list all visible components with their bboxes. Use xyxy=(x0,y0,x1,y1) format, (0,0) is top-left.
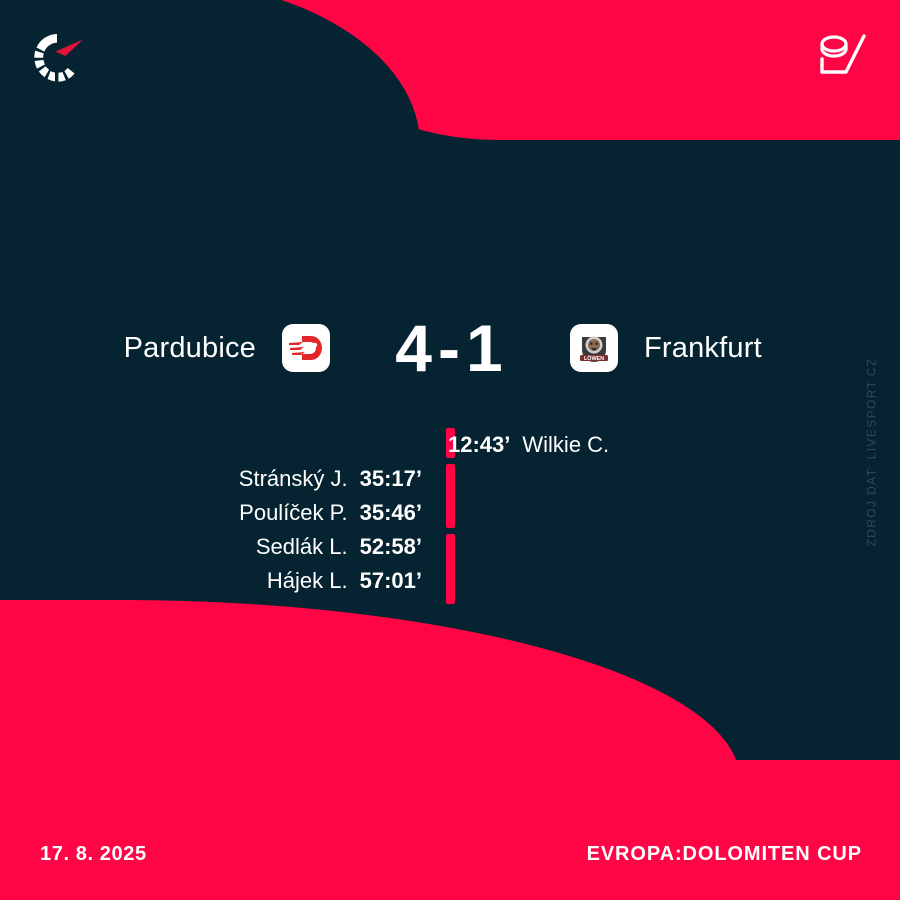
score-separator: - xyxy=(434,311,466,385)
goal-player: Wilkie C. xyxy=(522,432,609,458)
away-score: 1 xyxy=(466,311,505,385)
goal-player: Sedlák L. xyxy=(256,534,348,560)
pardubice-crest-icon xyxy=(282,324,330,372)
goal-row: 12:43’Wilkie C. xyxy=(0,428,900,462)
goal-player: Hájek L. xyxy=(267,568,348,594)
goal-home-side: Poulíček P.35:46’ xyxy=(0,500,435,526)
match-date: 17. 8. 2025 xyxy=(40,843,147,866)
goal-time: 57:01’ xyxy=(360,568,422,594)
frankfurt-loewen-crest-icon: LÖWEN xyxy=(570,324,618,372)
hockey-stick-puck-icon xyxy=(808,28,870,88)
goal-away-side: 12:43’Wilkie C. xyxy=(435,432,870,458)
scoreline: Pardubice 4-1 xyxy=(0,315,900,381)
livesport-logo-icon xyxy=(27,26,89,88)
goal-home-side: Sedlák L.52:58’ xyxy=(0,534,435,560)
goal-player: Stránský J. xyxy=(239,466,348,492)
goal-time: 52:58’ xyxy=(360,534,422,560)
goal-home-side: Stránský J.35:17’ xyxy=(0,466,435,492)
score-graphic: Pardubice 4-1 xyxy=(0,0,900,900)
background-red-bottom-fill xyxy=(0,762,900,900)
goal-row: Sedlák L.52:58’ xyxy=(0,530,900,564)
goal-time: 12:43’ xyxy=(448,432,510,458)
home-score: 4 xyxy=(395,311,434,385)
score-value: 4-1 xyxy=(356,315,544,381)
goal-player: Poulíček P. xyxy=(239,500,347,526)
goal-row: Hájek L.57:01’ xyxy=(0,564,900,598)
goal-row: Stránský J.35:17’ xyxy=(0,462,900,496)
goal-home-side: Hájek L.57:01’ xyxy=(0,568,435,594)
away-team-name: Frankfurt xyxy=(644,332,809,365)
svg-text:LÖWEN: LÖWEN xyxy=(584,355,604,362)
goal-list: 12:43’Wilkie C.Stránský J.35:17’Poulíček… xyxy=(0,428,900,598)
goal-row: Poulíček P.35:46’ xyxy=(0,496,900,530)
data-source-watermark: ZDROJ DAT: LIVESPORT.CZ xyxy=(864,357,878,546)
goal-time: 35:46’ xyxy=(360,500,422,526)
home-team-name: Pardubice xyxy=(91,332,256,365)
competition-name: EVROPA:DOLOMITEN CUP xyxy=(587,843,862,866)
goal-time: 35:17’ xyxy=(360,466,422,492)
